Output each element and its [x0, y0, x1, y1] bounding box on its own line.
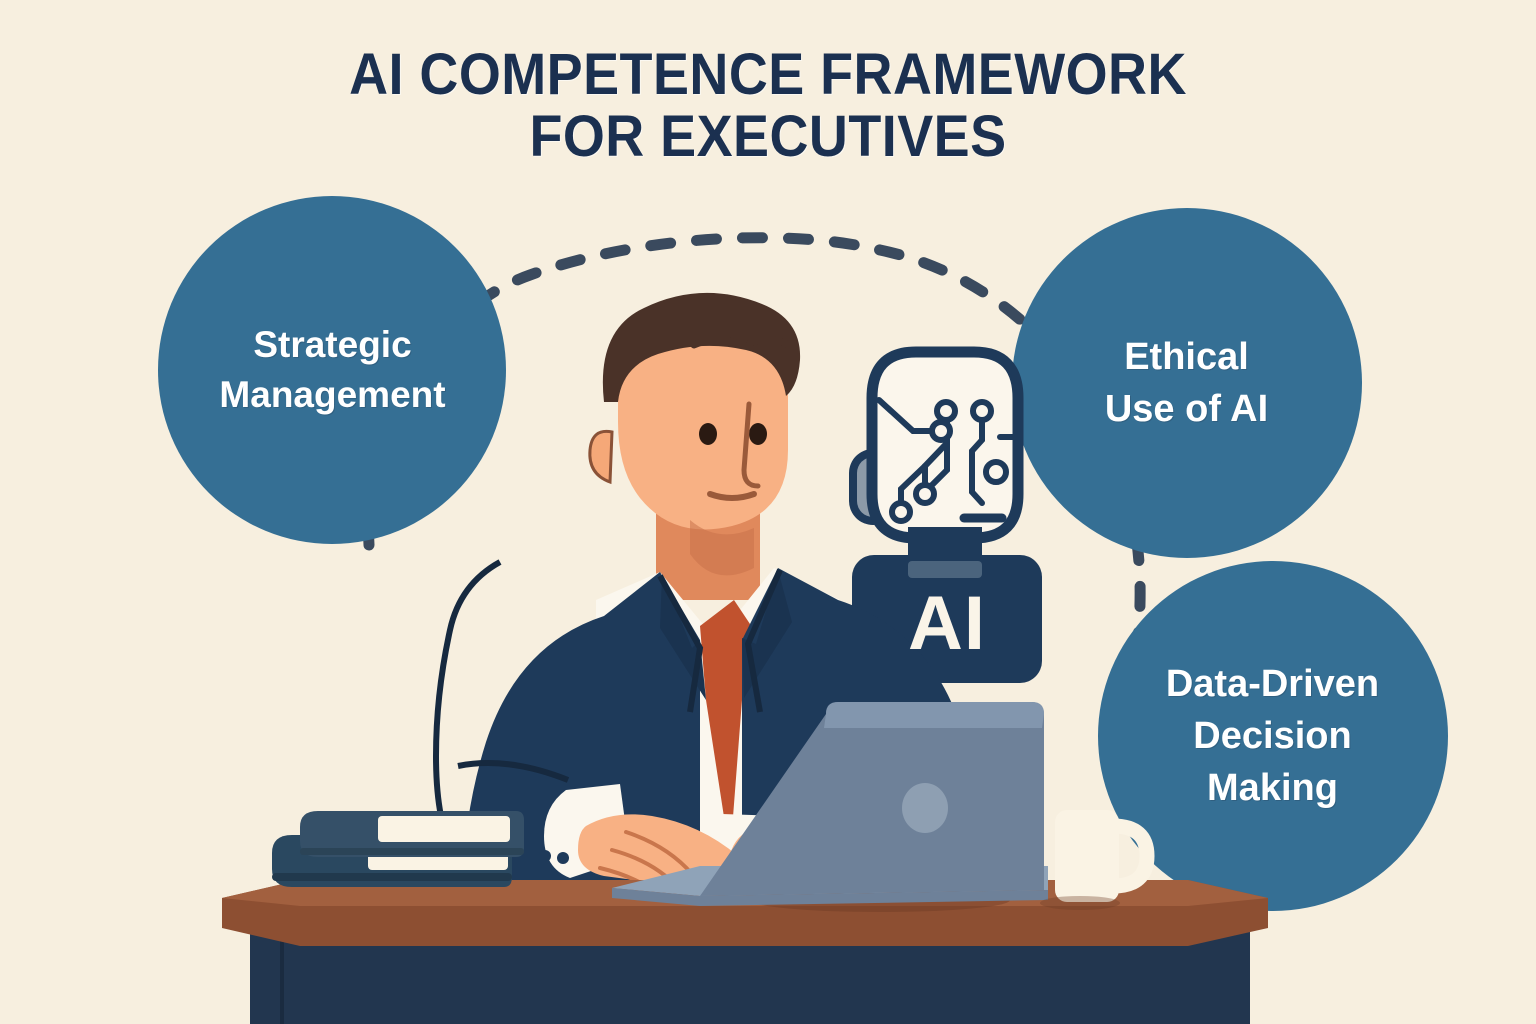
bubble-ethical-line2: Use of AI: [1105, 388, 1268, 430]
person-eye-right: [749, 423, 767, 445]
laptop-logo: [902, 783, 948, 833]
bubble-data-driven[interactable]: Data-Driven Decision Making: [1098, 561, 1447, 910]
infographic-canvas: AI COMPETENCE FRAMEWORK FOR EXECUTIVES S…: [0, 0, 1536, 1024]
bubble-strategic-line1: Strategic: [253, 324, 411, 365]
sleeve-button-1: [539, 850, 551, 862]
bubble-data-line3: Making: [1207, 767, 1338, 809]
robot-collar: [908, 561, 982, 578]
mug-body: [1055, 810, 1119, 902]
person-eye-left: [699, 423, 717, 445]
book-upper-edge: [300, 848, 524, 855]
bubble-data-label: Data-Driven Decision Making: [1160, 658, 1385, 814]
stacked-books: [272, 811, 524, 887]
book-upper-pages: [378, 816, 510, 842]
bubble-ethical-line1: Ethical: [1124, 336, 1249, 378]
laptop-lid-highlight: [824, 702, 1044, 728]
bubble-data-line2: Decision: [1193, 715, 1351, 757]
book-lower-edge: [272, 873, 512, 881]
bubble-strategic[interactable]: Strategic Management: [159, 196, 506, 543]
mug-shadow: [1040, 896, 1120, 910]
bubble-strategic-label: Strategic Management: [213, 320, 451, 420]
bubble-strategic-line2: Management: [219, 374, 445, 415]
bubble-ethical-label: Ethical Use of AI: [1099, 331, 1274, 435]
bubble-data-line1: Data-Driven: [1166, 663, 1379, 705]
sleeve-button-2: [557, 852, 569, 864]
bubble-ethical[interactable]: Ethical Use of AI: [1012, 208, 1361, 557]
